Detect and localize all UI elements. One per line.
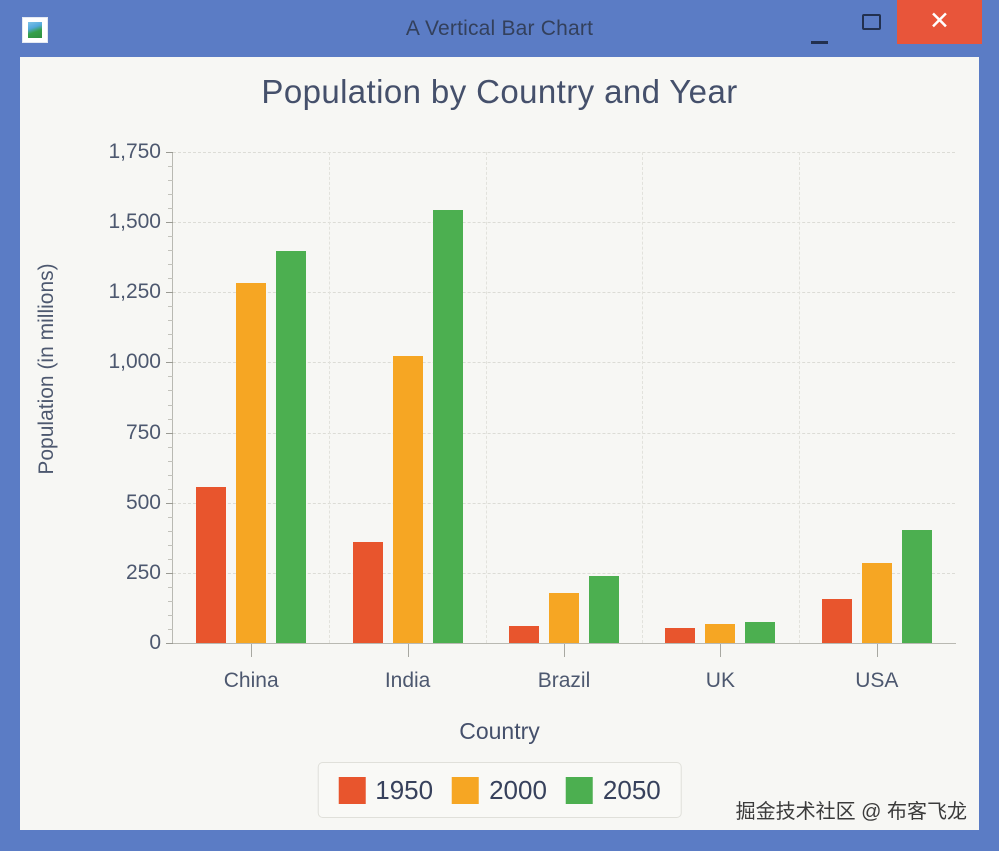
bar-uk-2000[interactable]	[705, 624, 735, 643]
y-axis-minor-tick	[168, 264, 173, 265]
y-axis-tick-label: 1,750	[69, 140, 161, 164]
y-axis-minor-tick	[168, 236, 173, 237]
bar-china-2050[interactable]	[276, 251, 306, 643]
y-axis-tick-label: 0	[69, 631, 161, 655]
legend-swatch-1950	[338, 777, 365, 804]
legend-item-2000[interactable]: 2000	[452, 775, 547, 806]
gridline-vertical	[486, 152, 487, 643]
y-axis-tick	[166, 503, 173, 504]
close-icon: ✕	[929, 9, 950, 34]
bar-uk-2050[interactable]	[745, 622, 775, 643]
y-axis-tick	[166, 573, 173, 574]
y-axis-minor-tick	[168, 278, 173, 279]
y-axis-minor-tick	[168, 545, 173, 546]
y-axis-minor-tick	[168, 587, 173, 588]
x-axis-tick	[251, 644, 252, 657]
bar-india-1950[interactable]	[353, 542, 383, 643]
y-axis-minor-tick	[168, 320, 173, 321]
y-axis-tick-label: 500	[69, 491, 161, 515]
bar-usa-2050[interactable]	[902, 530, 932, 643]
x-axis-tick-label-india: India	[328, 669, 488, 693]
bar-brazil-2000[interactable]	[549, 593, 579, 643]
y-axis-minor-tick	[168, 419, 173, 420]
minimize-button[interactable]	[793, 0, 845, 44]
gridline-horizontal	[173, 152, 955, 153]
x-axis-tick-label-brazil: Brazil	[484, 669, 644, 693]
y-axis-minor-tick	[168, 517, 173, 518]
y-axis-minor-tick	[168, 180, 173, 181]
y-axis-tick	[166, 433, 173, 434]
x-axis-tick	[408, 644, 409, 657]
bar-india-2050[interactable]	[433, 210, 463, 643]
y-axis-tick-label: 750	[69, 421, 161, 445]
legend-item-2050[interactable]: 2050	[566, 775, 661, 806]
y-axis-minor-tick	[168, 615, 173, 616]
gridline-horizontal	[173, 222, 955, 223]
x-axis-tick-label-china: China	[171, 669, 331, 693]
bar-china-2000[interactable]	[236, 283, 266, 643]
legend-label-1950: 1950	[375, 775, 433, 806]
maximize-icon	[862, 14, 881, 30]
bar-brazil-1950[interactable]	[509, 626, 539, 643]
y-axis-line	[172, 152, 173, 644]
y-axis-tick	[166, 152, 173, 153]
y-axis-minor-tick	[168, 405, 173, 406]
close-button[interactable]: ✕	[897, 0, 982, 44]
maximize-button[interactable]	[845, 0, 897, 44]
y-axis-minor-tick	[168, 306, 173, 307]
bar-india-2000[interactable]	[393, 356, 423, 643]
y-axis-tick-label: 1,000	[69, 350, 161, 374]
x-axis-tick-label-uk: UK	[640, 669, 800, 693]
y-axis-tick	[166, 362, 173, 363]
y-axis-tick-label: 1,500	[69, 210, 161, 234]
y-axis-minor-tick	[168, 334, 173, 335]
x-axis-tick	[877, 644, 878, 657]
x-axis-tick	[720, 644, 721, 657]
y-axis-minor-tick	[168, 390, 173, 391]
y-axis-minor-tick	[168, 208, 173, 209]
x-axis-tick	[564, 644, 565, 657]
y-axis-tick	[166, 643, 173, 644]
legend-swatch-2050	[566, 777, 593, 804]
y-axis-tick-label: 250	[69, 561, 161, 585]
watermark-text: 掘金技术社区 @ 布客飞龙	[736, 795, 967, 824]
x-axis-tick-label-usa: USA	[797, 669, 957, 693]
y-axis-tick-label: 1,250	[69, 280, 161, 304]
bar-usa-2000[interactable]	[862, 563, 892, 643]
y-axis-minor-tick	[168, 194, 173, 195]
y-axis-minor-tick	[168, 348, 173, 349]
legend-label-2050: 2050	[603, 775, 661, 806]
y-axis-label: Population (in millions)	[35, 159, 59, 579]
legend-label-2000: 2000	[489, 775, 547, 806]
bar-uk-1950[interactable]	[665, 628, 695, 643]
y-axis-tick	[166, 292, 173, 293]
chart-canvas: Population by Country and Year Populatio…	[20, 57, 979, 830]
gridline-vertical	[642, 152, 643, 643]
y-axis-minor-tick	[168, 531, 173, 532]
minimize-icon	[811, 41, 828, 44]
title-bar: A Vertical Bar Chart ✕	[0, 0, 999, 57]
bar-brazil-2050[interactable]	[589, 576, 619, 643]
chart-legend: 195020002050	[317, 762, 682, 818]
y-axis-minor-tick	[168, 601, 173, 602]
y-axis-minor-tick	[168, 475, 173, 476]
y-axis-minor-tick	[168, 559, 173, 560]
y-axis-minor-tick	[168, 250, 173, 251]
y-axis-minor-tick	[168, 166, 173, 167]
gridline-vertical	[329, 152, 330, 643]
gridline-vertical	[799, 152, 800, 643]
x-axis-label: Country	[20, 718, 979, 745]
chart-title: Population by Country and Year	[20, 73, 979, 111]
y-axis-minor-tick	[168, 376, 173, 377]
y-axis-minor-tick	[168, 629, 173, 630]
bar-china-1950[interactable]	[196, 487, 226, 643]
plot-area	[173, 152, 955, 643]
legend-swatch-2000	[452, 777, 479, 804]
bar-usa-1950[interactable]	[822, 599, 852, 643]
legend-item-1950[interactable]: 1950	[338, 775, 433, 806]
y-axis-minor-tick	[168, 447, 173, 448]
y-axis-minor-tick	[168, 489, 173, 490]
y-axis-minor-tick	[168, 461, 173, 462]
application-window: A Vertical Bar Chart ✕ Population by Cou…	[0, 0, 999, 851]
y-axis-tick	[166, 222, 173, 223]
